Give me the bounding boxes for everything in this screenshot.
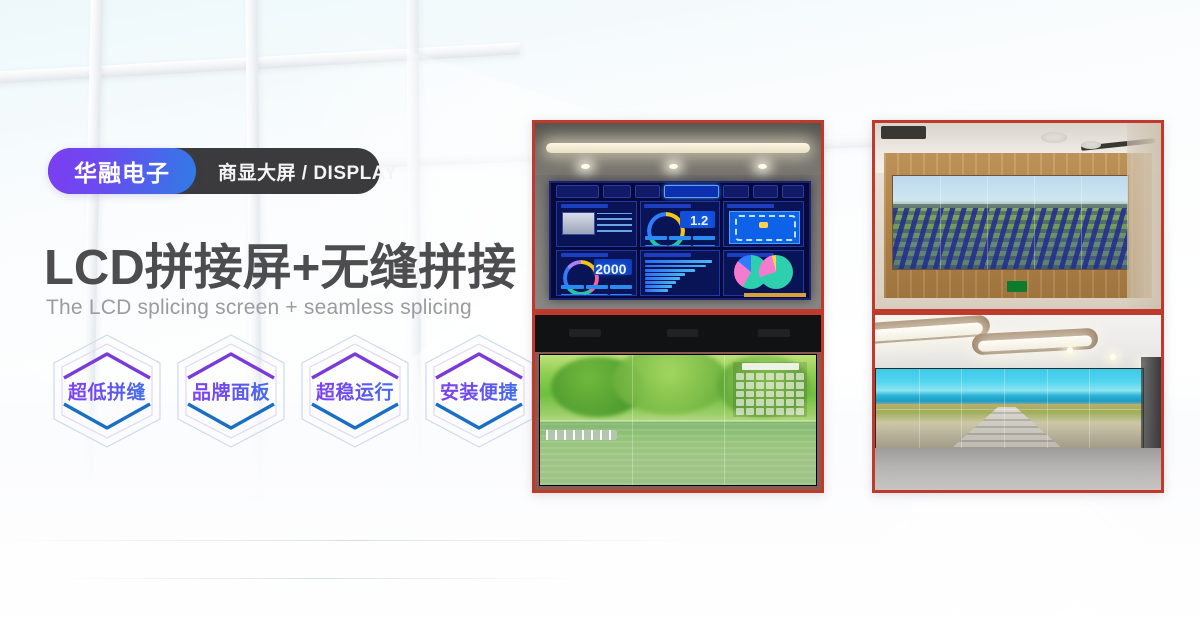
dashboard-widget-flow-diagram — [723, 201, 803, 247]
brand-name-chip: 华融电子 — [48, 148, 196, 194]
lcd-splicing-wall — [539, 354, 816, 486]
ceiling-downlight — [1067, 347, 1073, 353]
floor-seam-2 — [60, 578, 580, 579]
ceiling-glare — [758, 329, 789, 337]
ceiling-vent — [881, 126, 927, 139]
ceiling-speaker — [1081, 141, 1101, 149]
feature-badge[interactable]: 品牌面板 — [172, 332, 290, 450]
subheadline: The LCD splicing screen + seamless splic… — [46, 296, 472, 320]
brand-category-text: 商显大屏 / DISPLAY — [218, 158, 397, 185]
ceiling-spotlight — [581, 164, 590, 169]
ceiling-glare — [569, 329, 600, 337]
gallery-image-dashboard-video-wall[interactable]: 1.2 2000 — [532, 120, 824, 312]
dashboard-legend — [645, 233, 716, 244]
brand-pill: 华融电子 商显大屏 / DISPLAY — [48, 148, 397, 194]
dashboard-widget-bar-ranking — [640, 250, 720, 296]
side-wall — [1127, 123, 1161, 309]
lakeside-railing — [546, 430, 618, 440]
feature-badge-label: 超稳运行 — [296, 378, 414, 405]
calendar-title — [742, 363, 799, 370]
gallery-image-solar-farm-wall[interactable] — [872, 120, 1164, 312]
lcd-splicing-wall — [892, 175, 1129, 270]
headline: LCD拼接屏+无缝拼接 — [44, 228, 516, 299]
photo-dashboard-video-wall: 1.2 2000 — [535, 123, 821, 309]
photo-solar-farm-wall — [875, 123, 1161, 309]
exit-sign — [1007, 281, 1027, 292]
dashboard-widget-donut-kpi: 1.2 — [640, 201, 720, 247]
lcd-video-wall-screen: 1.2 2000 — [549, 181, 810, 300]
dashboard-widget-pies — [723, 250, 803, 296]
feature-badge-row: 超低拼缝 品牌面板 超稳运行 — [48, 332, 538, 450]
cove-light — [546, 143, 809, 153]
dashboard-legend — [561, 282, 632, 293]
gallery-image-willow-pond-wall[interactable] — [532, 312, 824, 493]
ceiling-dark-band — [535, 315, 821, 352]
showroom-floor — [875, 448, 1161, 490]
ceiling-glare — [667, 329, 698, 337]
feature-badge-label: 品牌面板 — [172, 378, 290, 405]
calendar-overlay — [733, 362, 807, 417]
banner-stage: 华融电子 商显大屏 / DISPLAY LCD拼接屏+无缝拼接 The LCD … — [0, 0, 1200, 640]
bar-list — [645, 260, 714, 292]
feature-badge-label: 超低拼缝 — [48, 378, 166, 405]
ceiling-downlight — [1110, 354, 1116, 360]
gallery-image-beach-boardwalk-wall[interactable] — [872, 312, 1164, 493]
dashboard-widget-grid: 1.2 2000 — [556, 201, 803, 296]
photo-willow-pond-wall — [535, 315, 821, 490]
dashboard-header-bar — [556, 185, 803, 199]
dashboard-widget-donut-count: 2000 — [556, 250, 636, 296]
calendar-grid — [736, 373, 804, 415]
solar-panel-array — [893, 208, 1128, 269]
lcd-splicing-wall — [875, 368, 1144, 451]
feature-badge-label: 安装便捷 — [420, 378, 538, 405]
feature-badge[interactable]: 超稳运行 — [296, 332, 414, 450]
floor-seam-1 — [0, 540, 700, 541]
ceiling-spotlight — [758, 164, 767, 169]
feature-badge[interactable]: 安装便捷 — [420, 332, 538, 450]
brand-name-text: 华融电子 — [74, 154, 170, 188]
photo-beach-boardwalk-wall — [875, 315, 1161, 490]
feature-badge[interactable]: 超低拼缝 — [48, 332, 166, 450]
dashboard-widget-overview — [556, 201, 636, 247]
ceiling-speaker — [1041, 132, 1067, 143]
